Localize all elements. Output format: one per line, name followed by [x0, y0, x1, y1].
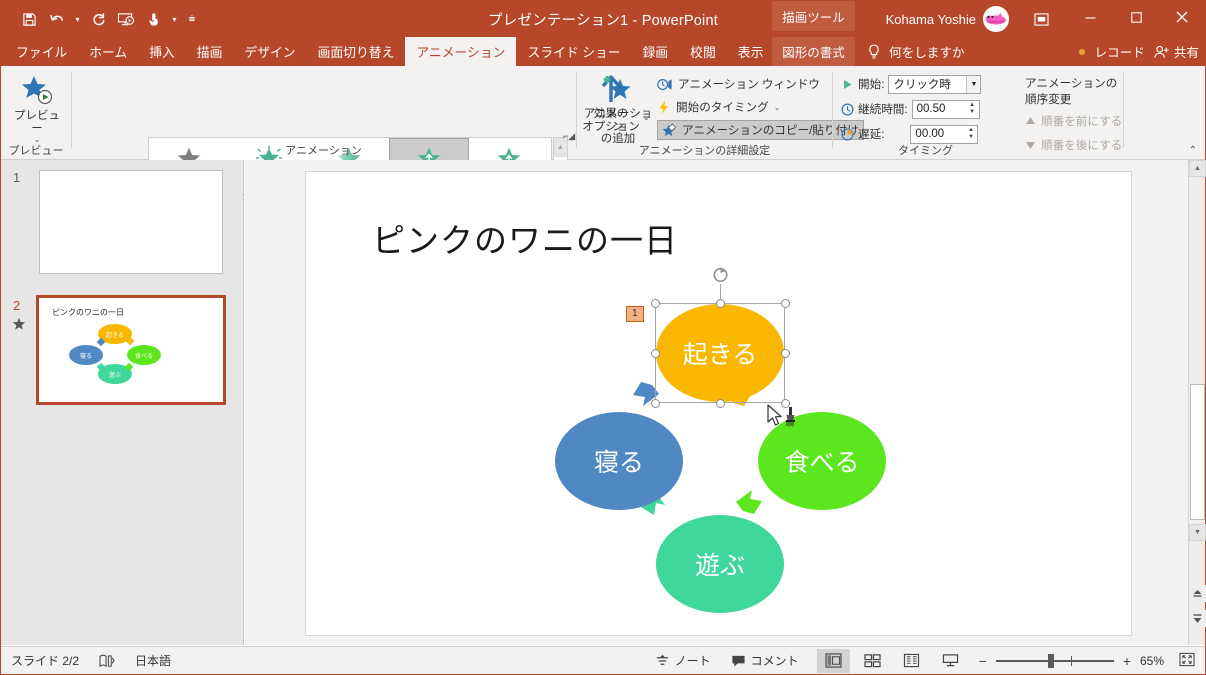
ribbon-group-timing-label: タイミング — [833, 142, 1018, 158]
customize-qat-icon[interactable]: ⩧ — [181, 6, 203, 32]
down-triangle-icon — [1025, 140, 1036, 150]
undo-icon[interactable] — [43, 6, 71, 32]
accessibility-checker-icon[interactable] — [89, 648, 125, 674]
slide-sorter-button[interactable] — [856, 649, 889, 673]
notes-label: ノート — [675, 652, 711, 669]
shape-eat-label: 食べる — [784, 443, 859, 479]
thumb-shape-right: 食べる — [127, 345, 161, 365]
lightbulb-icon — [867, 44, 881, 60]
clock-icon — [841, 103, 854, 116]
scroll-up-button[interactable]: ▲ — [1189, 160, 1206, 177]
status-bar: スライド 2/2 日本語 ノート コメント — [1, 646, 1205, 674]
tab-transitions[interactable]: 画面切り替え — [307, 37, 406, 66]
shape-play-label: 遊ぶ — [695, 546, 745, 582]
scroll-thumb[interactable] — [1190, 384, 1205, 520]
lightning-bolt-icon — [657, 100, 671, 115]
slide-indicator[interactable]: スライド 2/2 — [1, 648, 89, 674]
previous-slide-button[interactable] — [1189, 585, 1206, 602]
fit-to-window-button[interactable] — [1179, 652, 1195, 670]
avatar[interactable] — [983, 6, 1009, 32]
ribbon-group-advanced-animation: アニメーション の追加 ⌄ アニメーション ウィンドウ 開始のタイミング ⌄ ア… — [577, 66, 832, 160]
duration-spin-buttons[interactable]: ▲▼ — [966, 102, 979, 116]
record-status-dot-icon — [1079, 49, 1085, 55]
ribbon-group-advanced-label: アニメーションの詳細設定 — [577, 142, 832, 158]
ribbon-group-preview-label: プレビュー — [1, 142, 71, 158]
ribbon-group-timing: 開始: クリック時 ▼ 継続時間: 00.50 ▲▼ 遅延: — [833, 66, 1123, 160]
zoom-slider-thumb[interactable] — [1048, 654, 1054, 668]
comments-button[interactable]: コメント — [721, 648, 809, 674]
view-buttons — [817, 649, 967, 673]
shape-sleep[interactable]: 寝る — [555, 412, 683, 510]
account-area[interactable]: Kohama Yoshie — [886, 1, 1009, 37]
zoom-out-button[interactable]: − — [979, 653, 987, 669]
zoom-slider-track — [996, 660, 1114, 662]
slide-number-2: 2 — [13, 298, 20, 313]
slide-thumbnail-1[interactable] — [39, 170, 223, 274]
next-slide-button[interactable] — [1189, 610, 1206, 627]
up-triangle-icon — [1025, 116, 1036, 126]
slide-sorter-icon — [864, 653, 881, 668]
ribbon-display-options-icon[interactable] — [1031, 9, 1051, 29]
ribbon-group-preview: プレビュー ⌄ プレビュー — [1, 66, 71, 160]
start-dropdown-chevron-icon[interactable]: ▼ — [966, 76, 980, 93]
selection-frame — [655, 303, 785, 403]
slideshow-icon — [942, 653, 959, 668]
tab-insert[interactable]: 挿入 — [138, 37, 186, 66]
trigger-label: 開始のタイミング — [676, 99, 769, 115]
delay-spinner[interactable]: 00.00 ▲▼ — [910, 125, 978, 144]
move-earlier-label: 順番を前にする — [1041, 113, 1122, 129]
window-controls — [1067, 1, 1205, 37]
ribbon: プレビュー ⌄ プレビュー なし アピール — [1, 66, 1205, 160]
notes-button[interactable]: ノート — [645, 648, 721, 674]
minimize-button[interactable] — [1067, 1, 1113, 33]
save-icon[interactable] — [15, 6, 43, 32]
zoom-in-button[interactable]: + — [1123, 653, 1131, 669]
arrow-eat-to-play — [736, 490, 762, 514]
comments-label: コメント — [751, 652, 799, 669]
start-slideshow-icon[interactable] — [112, 6, 140, 32]
add-animation-chevron-icon[interactable]: ⌄ — [643, 113, 650, 122]
zoom-controls: − + 65% — [979, 652, 1195, 670]
comment-bubble-icon — [731, 654, 746, 668]
play-triangle-icon — [841, 78, 854, 91]
start-row: 開始: クリック時 ▼ — [841, 73, 981, 95]
slide-thumbnail-2[interactable]: ピンクのワニの一日 起きる 食べる 遊ぶ 寝る — [36, 295, 226, 405]
start-combobox[interactable]: クリック時 ▼ — [888, 75, 981, 94]
collapse-ribbon-icon[interactable]: ⌃ — [1189, 145, 1197, 156]
canvas-vertical-scrollbar[interactable]: ▲ ▼ — [1188, 160, 1205, 645]
tab-slideshow[interactable]: スライド ショー — [516, 37, 631, 66]
move-earlier-button[interactable]: 順番を前にする — [1025, 111, 1123, 131]
share-person-icon — [1154, 45, 1170, 59]
add-animation-star-icon — [601, 74, 635, 106]
zoom-level-label[interactable]: 65% — [1140, 654, 1170, 668]
trigger-chevron-icon[interactable]: ⌄ — [774, 103, 781, 112]
language-indicator[interactable]: 日本語 — [125, 648, 181, 674]
tab-animations[interactable]: アニメーション — [405, 37, 516, 66]
thumb-shape-left: 寝る — [69, 345, 103, 365]
tab-design[interactable]: デザイン — [233, 37, 306, 66]
ribbon-tab-strip: ファイル ホーム 挿入 描画 デザイン 画面切り替え アニメーション スライド … — [1, 37, 1205, 66]
slide-number-1: 1 — [13, 170, 20, 185]
slide-2-animation-star-icon — [12, 317, 26, 334]
tell-me-label: 何をしますか — [889, 42, 965, 61]
slideshow-view-button[interactable] — [934, 649, 967, 673]
ribbon-tabs: ファイル ホーム 挿入 描画 デザイン 画面切り替え アニメーション スライド … — [5, 37, 835, 66]
tab-file[interactable]: ファイル — [5, 37, 78, 66]
maximize-button[interactable] — [1113, 1, 1159, 33]
ribbon-group-animation: なし アピール フェード — [72, 66, 575, 160]
animation-order-tag[interactable]: 1 — [626, 306, 644, 322]
touch-mode-dropdown-chevron-icon[interactable]: ▾ — [168, 6, 181, 32]
delay-spin-buttons[interactable]: ▲▼ — [964, 127, 977, 141]
powerpoint-window: プレゼンテーション1 - PowerPoint ▾ ▾ ⩧ 描画ツール K — [0, 0, 1206, 675]
touch-mode-icon[interactable] — [140, 6, 168, 32]
slide-thumbnail-panel[interactable]: 1 2 ピンクのワニの一日 起きる 食べる 遊ぶ 寝る — [1, 160, 244, 645]
handle-middle-right[interactable] — [781, 349, 790, 358]
shape-sleep-label: 寝る — [594, 443, 644, 479]
add-animation-button[interactable]: アニメーション の追加 — [583, 74, 653, 146]
normal-view-icon — [825, 653, 842, 668]
start-label: 開始: — [858, 76, 884, 92]
handle-top-center[interactable] — [716, 299, 725, 308]
handle-bottom-center[interactable] — [716, 399, 725, 408]
slide-editing-surface[interactable]: ピンクのワニの一日 起きる 食べる 遊ぶ 寝る — [305, 171, 1132, 636]
reading-view-icon — [903, 653, 920, 668]
duration-row: 継続時間: 00.50 ▲▼ — [841, 98, 981, 120]
share-button[interactable]: 共有 — [1154, 42, 1199, 61]
zoom-slider[interactable] — [996, 653, 1114, 669]
tab-shape-format[interactable]: 図形の書式 — [772, 37, 855, 66]
undo-dropdown-chevron-icon[interactable]: ▾ — [71, 6, 84, 32]
tab-recording[interactable]: 録画 — [632, 37, 680, 66]
redo-icon[interactable] — [84, 6, 112, 32]
handle-bottom-left[interactable] — [651, 399, 660, 408]
preview-button[interactable]: プレビュー ⌄ — [9, 74, 65, 144]
user-name: Kohama Yoshie — [886, 12, 976, 27]
animation-painter-icon — [662, 123, 677, 137]
duration-value: 00.50 — [913, 103, 966, 115]
duration-label: 継続時間: — [858, 101, 908, 117]
thumb-arrow-1 — [126, 337, 134, 345]
ribbon-group-animation-label: アニメーション — [72, 142, 575, 158]
title-bar: プレゼンテーション1 - PowerPoint ▾ ▾ ⩧ 描画ツール K — [1, 1, 1205, 37]
preview-star-icon — [19, 74, 55, 108]
notes-icon — [655, 654, 670, 668]
fit-slide-icon — [1179, 652, 1195, 667]
slide-canvas-area: ピンクのワニの一日 起きる 食べる 遊ぶ 寝る — [245, 160, 1188, 645]
reading-view-button[interactable] — [895, 649, 928, 673]
slide-thumbnail-2-title: ピンクのワニの一日 — [52, 307, 124, 318]
shape-play[interactable]: 遊ぶ — [656, 515, 784, 613]
record-and-share: レコード 共有 — [1079, 37, 1199, 66]
start-value: クリック時 — [889, 76, 966, 92]
delay-value: 00.00 — [911, 128, 964, 140]
tab-home[interactable]: ホーム — [78, 37, 138, 66]
quick-access-toolbar: ▾ ▾ ⩧ — [15, 5, 203, 33]
normal-view-button[interactable] — [817, 649, 850, 673]
share-label: 共有 — [1174, 42, 1199, 61]
animation-pane-icon — [657, 77, 673, 92]
move-later-button[interactable]: 順番を後にする — [1025, 135, 1123, 155]
move-later-label: 順番を後にする — [1041, 137, 1122, 153]
duration-spinner[interactable]: 00.50 ▲▼ — [912, 100, 980, 119]
tab-review[interactable]: 校閲 — [679, 37, 727, 66]
tab-view[interactable]: 表示 — [727, 37, 775, 66]
tab-draw[interactable]: 描画 — [186, 37, 234, 66]
handle-top-left[interactable] — [651, 299, 660, 308]
scroll-down-button[interactable]: ▼ — [1189, 524, 1206, 541]
rotate-handle-icon[interactable] — [711, 265, 730, 289]
delay-label: 遅延: — [858, 126, 884, 142]
mouse-cursor-animation-painter — [766, 404, 802, 437]
contextual-tab-header: 描画ツール — [772, 1, 855, 31]
preview-button-label: プレビュー — [9, 110, 65, 135]
handle-top-right[interactable] — [781, 299, 790, 308]
handle-middle-left[interactable] — [651, 349, 660, 358]
delay-clock-icon — [841, 128, 854, 141]
animation-dialog-launcher-icon[interactable]: ⌐◢ — [563, 131, 575, 142]
record-button[interactable]: レコード — [1094, 42, 1144, 61]
close-button[interactable] — [1159, 1, 1205, 33]
animation-pane-label: アニメーション ウィンドウ — [678, 76, 820, 92]
reorder-animation-label: アニメーションの順序変更 — [1025, 75, 1123, 107]
zoom-slider-midpoint — [1071, 656, 1072, 666]
tell-me-search[interactable]: 何をしますか — [867, 37, 965, 66]
group-divider-4 — [1123, 72, 1124, 148]
